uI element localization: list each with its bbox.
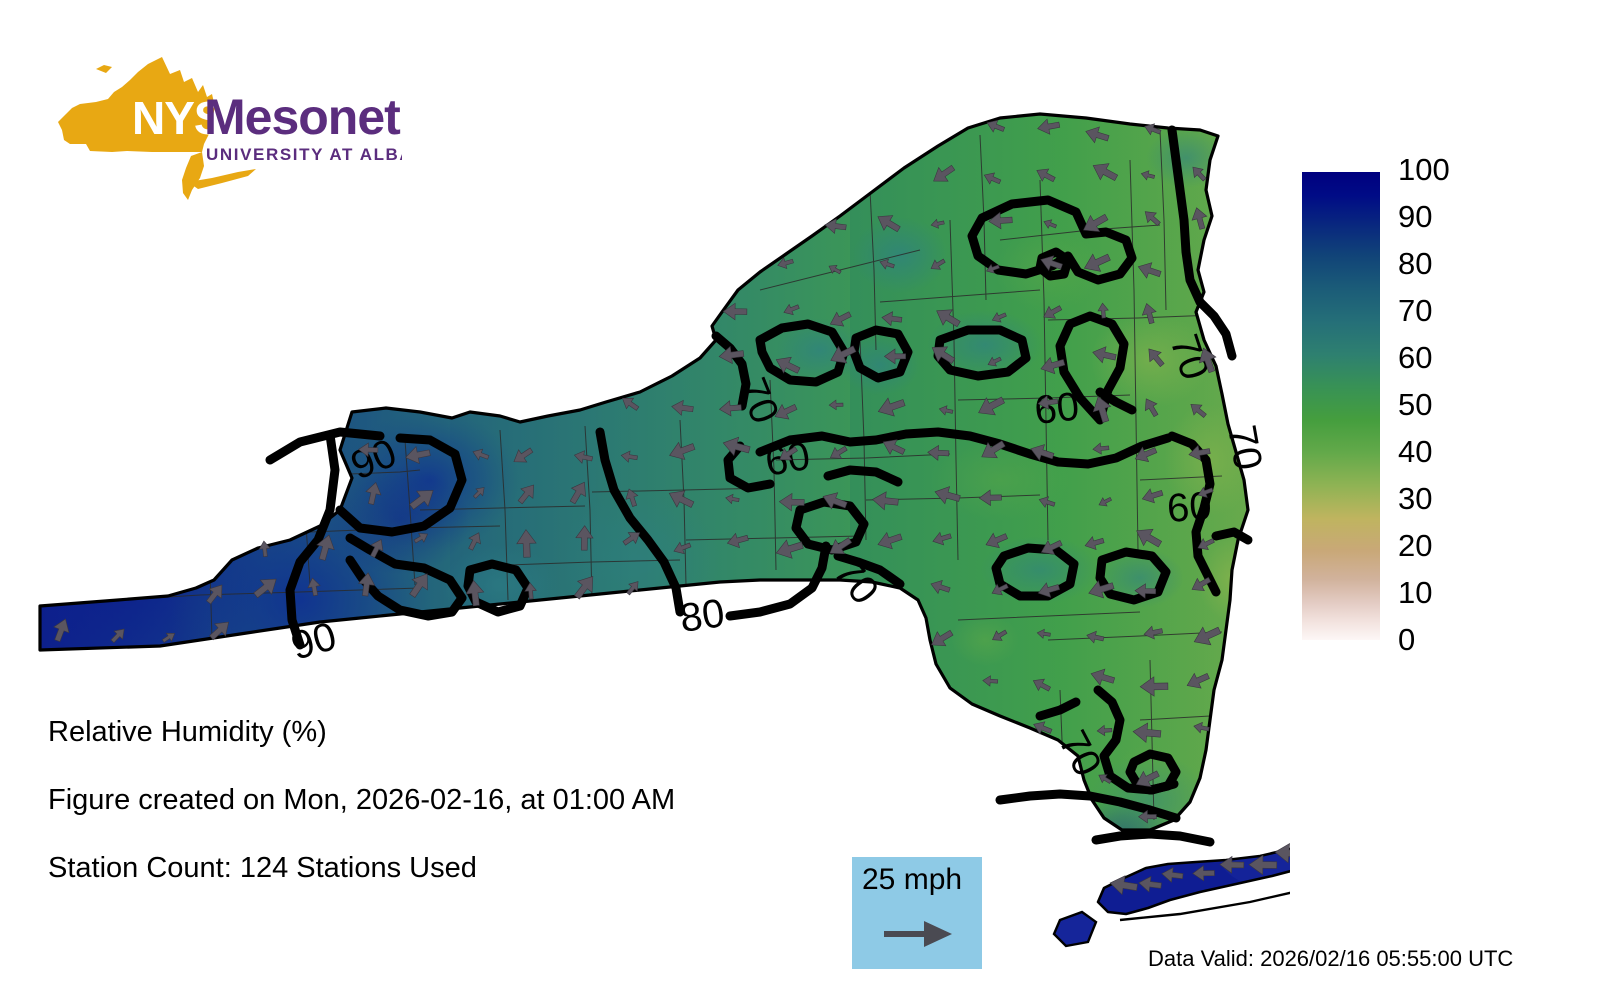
- contour-label-70-d: 70: [1219, 422, 1270, 473]
- colorbar-tick-60: 60: [1398, 342, 1432, 373]
- wind-speed-legend: 25 mph: [852, 857, 982, 969]
- colorbar-tick-10: 10: [1398, 577, 1432, 608]
- contour-label-80: 80: [677, 591, 727, 641]
- wind-arrow-east-icon: [882, 917, 954, 951]
- colorbar-tick-30: 30: [1398, 483, 1432, 514]
- colorbar-tick-90: 90: [1398, 201, 1432, 232]
- colorbar-tick-0: 0: [1398, 624, 1415, 655]
- humidity-colorbar: 100 90 80 70 60 50 40 30 20 10 0: [1302, 168, 1582, 658]
- wind-legend-label: 25 mph: [862, 863, 962, 897]
- figure-caption: Relative Humidity (%) Figure created on …: [48, 718, 868, 922]
- colorbar-tick-50: 50: [1398, 389, 1432, 420]
- caption-title: Relative Humidity (%): [48, 718, 868, 747]
- colorbar-tick-80: 80: [1398, 248, 1432, 279]
- caption-created: Figure created on Mon, 2026-02-16, at 01…: [48, 786, 868, 815]
- colorbar-tick-labels: 100 90 80 70 60 50 40 30 20 10 0: [1398, 168, 1568, 648]
- colorbar-tick-40: 40: [1398, 436, 1432, 467]
- colorbar-tick-20: 20: [1398, 530, 1432, 561]
- colorbar-gradient: [1302, 172, 1380, 640]
- data-valid-timestamp: Data Valid: 2026/02/16 05:55:00 UTC: [1148, 948, 1513, 970]
- contour-label-60-b: 60: [1032, 385, 1081, 433]
- caption-stations: Station Count: 124 Stations Used: [48, 854, 868, 883]
- colorbar-tick-100: 100: [1398, 154, 1450, 185]
- colorbar-tick-70: 70: [1398, 295, 1432, 326]
